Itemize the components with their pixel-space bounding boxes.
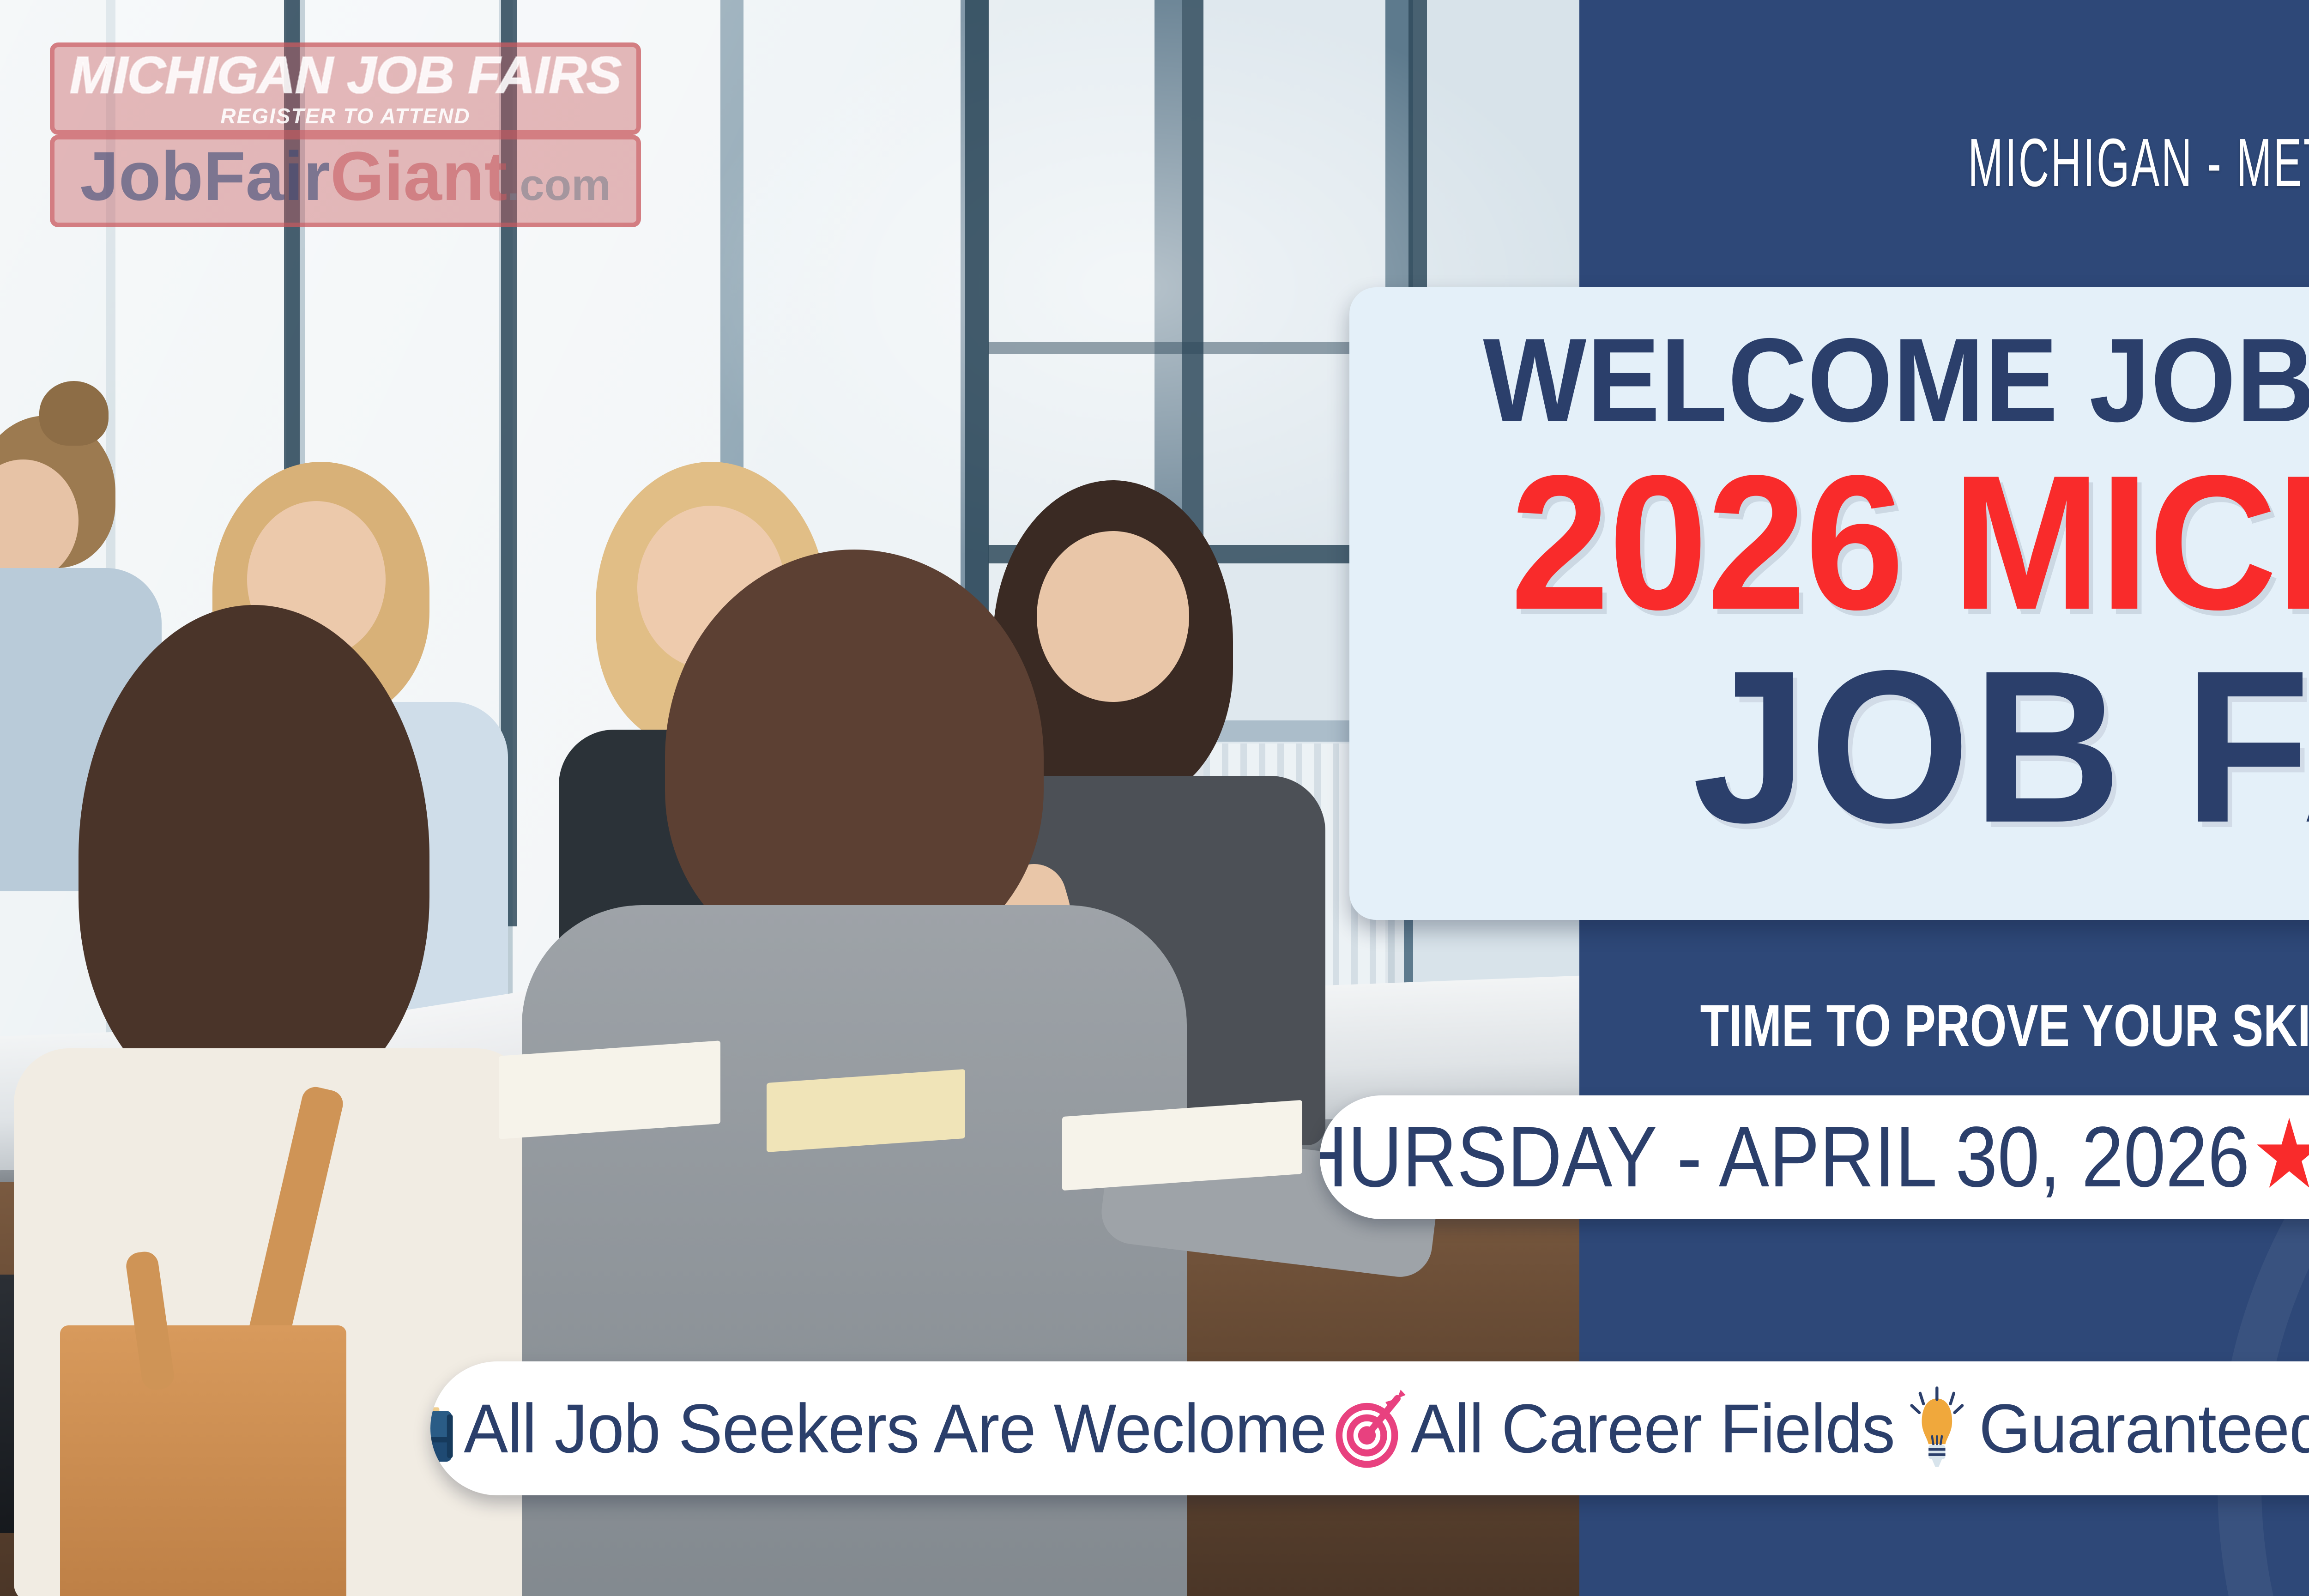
lightbulb-icon: [1895, 1384, 1979, 1472]
job-fair-banner: MICHIGAN JOB FAIRS REGISTER TO ATTEND Jo…: [0, 0, 2309, 1596]
location-kicker: MICHIGAN - METRO DETROIT: [1826, 124, 2309, 202]
headline-card: WELCOME JOB SEEKERS 2026 MICHIGAN JOB FA…: [1349, 287, 2309, 920]
briefcase-icon: [430, 1384, 464, 1472]
features-row: All Job Seekers Are Weclome All Career F…: [430, 1384, 2309, 1472]
event-date: THURSDAY - APRIL 30, 2026: [1320, 1114, 2250, 1200]
dart-target-icon: [1326, 1384, 1410, 1472]
event-date-bar: THURSDAY - APRIL 30, 2026 ★ 12:00 PM TO …: [1320, 1095, 2309, 1219]
tagline: TIME TO PROVE YOUR SKILLS TO THE EMPLOYE…: [1693, 992, 2309, 1060]
headline-welcome: WELCOME JOB SEEKERS: [1416, 320, 2309, 440]
headline-year-state: 2026 MICHIGAN: [1408, 447, 2309, 638]
feature-label-job-seekers: All Job Seekers Are Weclome: [464, 1394, 1326, 1463]
meeting-room-photo: MICHIGAN JOB FAIRS REGISTER TO ATTEND Jo…: [0, 0, 1579, 1596]
event-date-time: THURSDAY - APRIL 30, 2026 ★ 12:00 PM TO …: [1320, 1109, 2309, 1205]
feature-label-career-fields: All Career Fields: [1411, 1394, 1895, 1463]
headline-job-fair: JOB FAIR: [1391, 638, 2309, 855]
feature-label-same-day-interview: Guaranteed Same-Day Job Interview: [1979, 1394, 2309, 1463]
star-icon: ★: [2251, 1106, 2309, 1203]
features-bar: All Job Seekers Are Weclome All Career F…: [430, 1361, 2309, 1495]
